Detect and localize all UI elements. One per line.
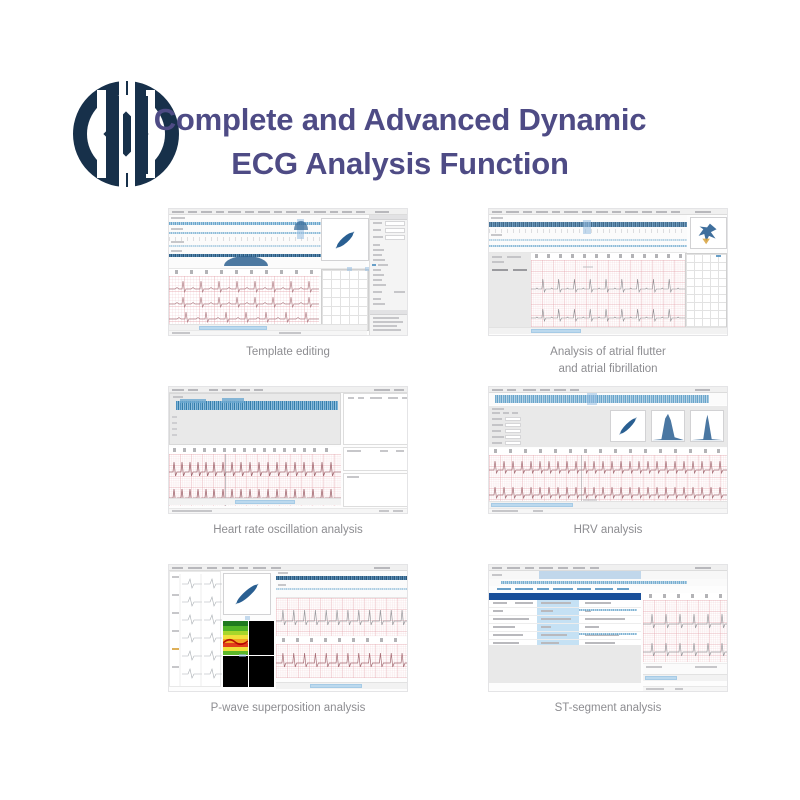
trend-overview-strip[interactable]: [489, 215, 687, 253]
hrv-value-field[interactable]: [505, 417, 521, 421]
st-measure-bar[interactable]: [643, 663, 727, 674]
status-bar: [169, 508, 407, 513]
ecg-waveform-grid-lower[interactable]: [276, 644, 407, 678]
ecg-trace: [531, 305, 685, 323]
gallery-row-1: Template editing: [0, 208, 800, 378]
hrv-histogram-2[interactable]: [690, 410, 724, 442]
ecg-trace: [276, 606, 407, 628]
st-episode-table[interactable]: [489, 600, 641, 645]
lead-overlay-traces: [170, 572, 222, 688]
ecg-waveform-grid-upper[interactable]: [276, 598, 407, 636]
gallery-item-caption: ST-segment analysis: [448, 700, 768, 717]
histogram-icon: [652, 411, 684, 441]
ecg-trace: [169, 458, 341, 478]
status-bar: [489, 508, 727, 513]
caption-line-1: Analysis of atrial flutter: [550, 346, 666, 358]
rr-interval-trend[interactable]: [489, 393, 727, 405]
gallery-item-p-wave-superposition[interactable]: P-wave superposition analysis: [128, 564, 448, 717]
oscillation-detail-panel[interactable]: [343, 473, 408, 507]
sidebar-input[interactable]: [385, 235, 405, 240]
heatmap-divider-handle[interactable]: [239, 654, 246, 657]
heart-rate-trend-panel[interactable]: [169, 393, 341, 445]
page-title: Complete and Advanced Dynamic ECG Analys…: [0, 98, 800, 186]
ecg-trace: [531, 276, 685, 294]
caption-line-1: Template editing: [246, 346, 330, 358]
gallery-item-caption: P-wave superposition analysis: [128, 700, 448, 717]
histogram-icon: [691, 411, 723, 441]
template-properties-sidebar[interactable]: [369, 215, 407, 335]
ecg-trace: [643, 610, 727, 630]
timeline-scrollbar[interactable]: [643, 674, 727, 681]
trend-overview-strip[interactable]: [276, 571, 407, 598]
st-criteria-row[interactable]: [489, 586, 727, 593]
screenshot-gallery: Template editing: [0, 208, 800, 734]
p-wave-heatmap-bottomleft[interactable]: [223, 656, 248, 687]
status-bar: [169, 330, 367, 335]
gallery-item-caption: Analysis of atrial flutter and atrial fi…: [448, 344, 768, 377]
caption-line-1: HRV analysis: [574, 524, 643, 536]
trend-selection-marker[interactable]: [583, 220, 591, 234]
template-caliper-grid[interactable]: [321, 269, 369, 331]
hrv-value-field[interactable]: [505, 435, 521, 439]
timeline-scrollbar[interactable]: [489, 501, 727, 508]
page-title-line-2: ECG Analysis Function: [0, 142, 800, 186]
scrollbar-thumb[interactable]: [310, 684, 362, 688]
p-wave-heatmap-topleft[interactable]: [223, 621, 248, 655]
gallery-item-caption: HRV analysis: [448, 522, 768, 539]
hrv-parameter-panel[interactable]: [489, 406, 727, 447]
gallery-item-atrial-flutter-fibrillation[interactable]: Analysis of atrial flutter and atrial fi…: [448, 208, 768, 377]
caption-line-1: Heart rate oscillation analysis: [213, 524, 363, 536]
gallery-row-2: Heart rate oscillation analysis: [0, 386, 800, 556]
ecg-trace: [489, 457, 727, 475]
ecg-st-segment-analysis-screenshot[interactable]: [488, 564, 728, 692]
scatter-plot-icon: [224, 574, 270, 614]
ecg-hrv-analysis-screenshot[interactable]: [488, 386, 728, 514]
af-measure-grid[interactable]: [685, 253, 727, 331]
page-header: Complete and Advanced Dynamic ECG Analys…: [0, 78, 800, 198]
p-wave-scatter-preview[interactable]: [223, 573, 271, 615]
ecg-waveform-grid[interactable]: [169, 276, 319, 324]
hrv-histogram-1[interactable]: [651, 410, 685, 442]
heatmap-contour: [223, 621, 248, 655]
sidebar-input[interactable]: [385, 228, 405, 233]
gallery-item-template-editing[interactable]: Template editing: [128, 208, 448, 361]
st-toolbar-row[interactable]: [489, 571, 727, 579]
trend-selection-marker[interactable]: [587, 393, 597, 405]
timeline-scrollbar[interactable]: [489, 327, 727, 334]
caption-line-1: ST-segment analysis: [555, 702, 662, 714]
timeline-scrollbar[interactable]: [169, 498, 341, 505]
hrv-value-field[interactable]: [505, 441, 521, 445]
scatter-plot-icon: [322, 219, 368, 260]
caliper-handle[interactable]: [347, 267, 352, 271]
ecg-trace: [489, 482, 727, 500]
st-filter-row[interactable]: [489, 579, 727, 586]
ecg-trace: [169, 293, 319, 309]
lead-overlay-column[interactable]: [169, 571, 221, 687]
ecg-waveform-grid[interactable]: [643, 600, 727, 662]
gallery-item-st-segment[interactable]: ST-segment analysis: [448, 564, 768, 717]
ecg-waveform-grid[interactable]: [489, 455, 727, 503]
poincare-plot[interactable]: [610, 410, 646, 442]
ecg-trace: [276, 648, 407, 670]
ecg-template-editing-screenshot[interactable]: [168, 208, 408, 336]
st-detail-blank-area: [489, 645, 641, 683]
sidebar-input[interactable]: [385, 221, 405, 226]
gallery-item-heart-rate-oscillation[interactable]: Heart rate oscillation analysis: [128, 386, 448, 539]
page-title-line-1: Complete and Advanced Dynamic: [154, 102, 647, 137]
ecg-trace: [643, 638, 727, 658]
gallery-item-caption: Heart rate oscillation analysis: [128, 522, 448, 539]
scrollbar-thumb[interactable]: [531, 329, 581, 333]
gallery-item-hrv-analysis[interactable]: HRV analysis: [448, 386, 768, 539]
scrollbar-thumb[interactable]: [645, 676, 677, 680]
af-detection-preview[interactable]: [690, 217, 727, 249]
caption-line-2: and atrial fibrillation: [448, 361, 768, 378]
hrv-value-field[interactable]: [505, 429, 521, 433]
scatter-plot-icon: [691, 218, 726, 248]
ecg-trace: [169, 308, 319, 324]
oscillation-list-panel[interactable]: [343, 447, 408, 471]
timeline-scrollbar[interactable]: [276, 682, 407, 689]
gallery-row-3: P-wave superposition analysis: [0, 564, 800, 734]
ecg-heart-rate-oscillation-screenshot[interactable]: [168, 386, 408, 514]
af-parameter-panel[interactable]: [489, 253, 531, 331]
status-bar: [643, 686, 727, 691]
ecg-p-wave-superposition-screenshot[interactable]: [168, 564, 408, 692]
hrv-value-field[interactable]: [505, 423, 521, 427]
scatter-handle[interactable]: [245, 616, 250, 620]
p-wave-heatmap-topright[interactable]: [249, 621, 274, 655]
ecg-atrial-flutter-fibrillation-screenshot[interactable]: [488, 208, 728, 336]
scrollbar-thumb[interactable]: [235, 500, 295, 504]
st-table-header-selected[interactable]: [489, 593, 641, 600]
sidebar-header: [370, 215, 407, 220]
gallery-item-caption: Template editing: [128, 344, 448, 361]
p-wave-heatmap-bottomright[interactable]: [249, 656, 274, 687]
caption-line-1: P-wave superposition analysis: [211, 702, 366, 714]
template-scatter-preview[interactable]: [321, 218, 369, 261]
scatter-plot-icon: [611, 411, 645, 441]
oscillation-results-panel[interactable]: [343, 393, 408, 445]
sidebar-section-header: [370, 310, 407, 315]
ecg-waveform-grid[interactable]: [531, 260, 685, 330]
scrollbar-thumb[interactable]: [491, 503, 573, 507]
ecg-trace: [169, 278, 319, 294]
